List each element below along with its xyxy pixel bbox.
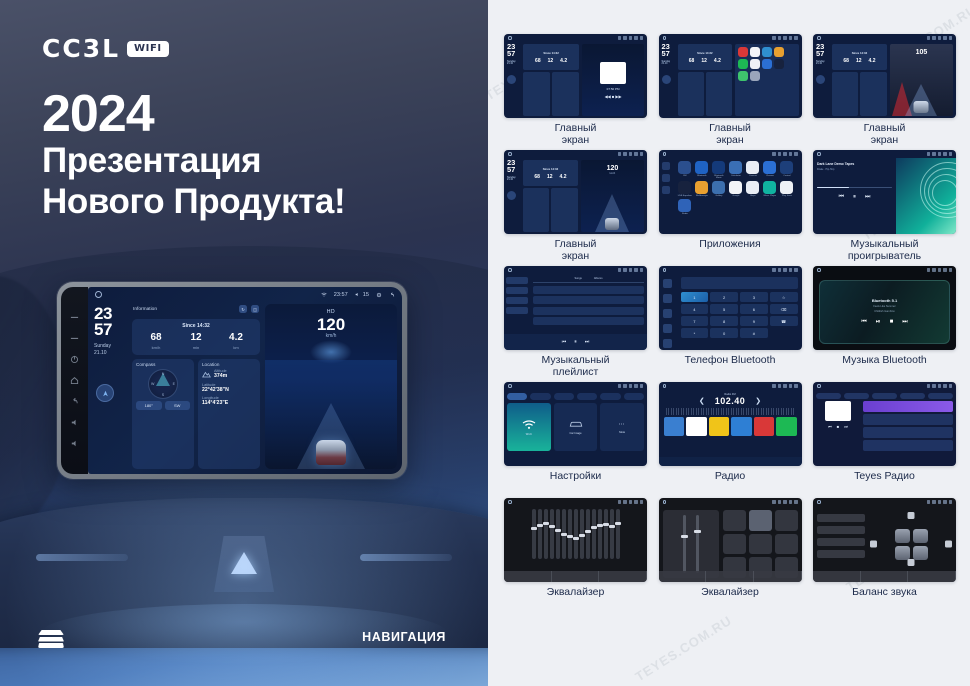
settings-gear-icon[interactable] <box>376 292 382 298</box>
gallery-item[interactable]: Эквалайзер <box>659 498 802 613</box>
seat-layout <box>895 529 928 560</box>
balance-option-row[interactable] <box>817 550 865 558</box>
dial-key[interactable]: * <box>681 328 709 338</box>
layers-stack-icon <box>38 630 64 648</box>
settings-card-more[interactable]: ⋯ More <box>600 403 644 451</box>
eq-band-slider[interactable] <box>586 509 590 559</box>
more-icon: ⋯ <box>619 421 626 428</box>
stop-icon[interactable]: ■ <box>837 424 839 429</box>
settings-card-car-image[interactable]: Car Image <box>554 403 598 451</box>
gallery-item[interactable]: Эквалайзер <box>504 498 647 613</box>
altitude-value: 374m <box>214 373 227 379</box>
trip-metric-duration: 12 min <box>176 333 216 350</box>
eq-band-slider[interactable] <box>550 509 554 559</box>
trip-since-label: Since 14:32 <box>136 323 256 329</box>
air-vent-left <box>36 554 128 561</box>
app-tile[interactable]: Bluetooth Music <box>711 161 726 179</box>
home-icon[interactable] <box>95 291 102 298</box>
app-tile[interactable]: Control <box>779 161 794 179</box>
balance-toolbar[interactable] <box>813 571 956 582</box>
eq-band-slider[interactable] <box>568 509 572 559</box>
app-tile[interactable]: Gallery <box>711 181 726 197</box>
clock-date: 21.10 <box>94 350 127 357</box>
gallery-item[interactable]: ⏮ ■ ⏭ <box>813 382 956 497</box>
app-tile[interactable]: Maps <box>745 181 760 197</box>
playlist-row[interactable] <box>533 296 644 304</box>
dial-key[interactable]: 8 <box>710 316 738 326</box>
home-key[interactable] <box>70 376 79 385</box>
thumbnail-equalizer-presets[interactable] <box>659 498 802 582</box>
track-artist: Drake · Hip-Hop <box>817 168 892 171</box>
playlist-row[interactable] <box>533 286 644 294</box>
settings-card-label: Car Image <box>569 432 581 435</box>
app-tile[interactable]: Radio <box>677 199 692 215</box>
station-list <box>863 401 953 457</box>
app-grid: FM Bluetooth Bluetooth Music Calculator … <box>674 158 801 234</box>
gallery-caption: Эквалайзер <box>547 587 605 613</box>
visualizer <box>896 158 956 234</box>
thumbnail-playlist[interactable]: SongsAlbums ⏮ ⏸ ⏭ <box>504 266 647 350</box>
thumbnail-home-media[interactable]: 2357Sunday21.10 Since 14:3268124.2 07:50… <box>504 34 647 118</box>
dial-key[interactable]: 5 <box>710 304 738 314</box>
next-icon[interactable]: ⏭ <box>865 194 870 201</box>
gallery-caption: Музыка Bluetooth <box>842 355 926 381</box>
call-button[interactable]: ☎ <box>770 316 798 326</box>
headline-line-2: Нового Продукта! <box>42 182 345 223</box>
thumbnail-teyes-radio[interactable]: ⏮ ■ ⏭ <box>813 382 956 466</box>
radio-preset[interactable] <box>754 417 775 436</box>
headline-year: 2024 <box>42 88 345 141</box>
gallery-item[interactable]: 2357Sunday21.10 Since 14:3268124.2 07:50… <box>504 34 647 149</box>
gallery-row: SongsAlbums ⏮ ⏸ ⏭ Музыкальныйпл <box>504 266 956 381</box>
gallery-item[interactable]: SongsAlbums ⏮ ⏸ ⏭ Музыкальныйпл <box>504 266 647 381</box>
thumbnail-home-nav[interactable]: 2357Sunday21.10 Since 14:3268124.2 105 <box>813 34 956 118</box>
dial-key[interactable]: # <box>740 328 768 338</box>
dialpad-icon[interactable] <box>663 279 672 288</box>
compass-direction-value: SW <box>165 401 191 410</box>
gallery-caption: Teyes Радио <box>854 471 915 497</box>
promo-hero-panel: CC3L WIFI 2024 Презентация Нового Продук… <box>0 0 488 686</box>
balance-options <box>817 510 865 578</box>
location-widget[interactable]: Location Altitude 374m Latitude <box>198 359 260 469</box>
dial-pad: 1 2 3 ☆ 4 5 6 ⌫ 7 8 9 ☎ <box>681 292 798 338</box>
thumbnail-bluetooth-phone[interactable]: 1 2 3 ☆ 4 5 6 ⌫ 7 8 9 ☎ <box>659 266 802 350</box>
settings-card-label: Wi-Fi <box>526 433 532 436</box>
compass-bearing-value: 180° <box>136 401 162 410</box>
playlist-tab-songs[interactable]: Songs <box>574 277 581 280</box>
previous-icon[interactable]: ⏮ <box>861 319 866 326</box>
station-row[interactable] <box>863 401 953 412</box>
radio-preset[interactable] <box>709 417 730 436</box>
previous-icon[interactable]: ⏮ <box>839 194 844 201</box>
station-row[interactable] <box>863 427 953 438</box>
gallery-caption: Музыкальныйплейлист <box>542 355 610 381</box>
bt-track-title: Feels Like Summer <box>873 305 895 308</box>
eq-band-slider[interactable] <box>574 509 578 559</box>
equalizer-toolbar[interactable] <box>504 571 647 582</box>
gallery-caption: Главныйэкран <box>555 239 597 265</box>
eq-preset-button[interactable] <box>775 534 798 555</box>
eq-band-slider[interactable] <box>562 509 566 559</box>
eq-band-slider[interactable] <box>610 509 614 559</box>
app-tile[interactable]: Google <box>728 181 743 197</box>
thumbnail-sound-balance[interactable] <box>813 498 956 582</box>
balance-pad[interactable] <box>870 510 952 578</box>
eq-preset-button[interactable] <box>749 534 772 555</box>
bluetooth-settings-icon[interactable] <box>663 339 672 348</box>
gallery-caption: Музыкальныйпроигрыватель <box>848 239 921 265</box>
trip-metric-speed: 68 km/h <box>136 333 176 350</box>
hud-speed-value: 120 <box>317 316 345 333</box>
settings-tab[interactable] <box>530 393 550 400</box>
gallery-row: Эквалайзер <box>504 498 956 613</box>
previous-icon[interactable]: ⏮ <box>562 339 567 345</box>
eq-preset-button[interactable] <box>723 534 746 555</box>
radio-preset[interactable] <box>686 417 707 436</box>
radio-frequency: 102.40 <box>715 396 746 406</box>
app-tile[interactable]: FileManager <box>694 181 709 197</box>
settings-tab[interactable] <box>507 393 527 400</box>
wifi-icon <box>321 292 327 297</box>
home-screen-body: 23 57 Sunday 21.10 Information ↻ <box>88 302 402 474</box>
dial-key[interactable]: 4 <box>681 304 709 314</box>
compass-south-label: S <box>162 393 164 397</box>
watermark: TEYES.COM.RU <box>632 613 734 685</box>
compass-north-label: N <box>162 372 165 376</box>
compass-east-label: E <box>173 382 175 386</box>
thumbnail-bluetooth-music[interactable]: Bluetooth 5.1 Feels Like Summer Childish… <box>813 266 956 350</box>
app-tile[interactable]: Play Store <box>779 181 794 197</box>
gallery-item[interactable]: Wi-Fi Car Image ⋯ More <box>504 382 647 497</box>
equalizer-bands <box>507 509 644 559</box>
radio-preset[interactable] <box>776 417 797 436</box>
gallery-caption: Эквалайзер <box>701 587 759 613</box>
playlist-row[interactable] <box>533 307 644 315</box>
app-tile[interactable]: USB Equalizer <box>677 181 692 197</box>
volume-down-key[interactable] <box>70 334 79 343</box>
gallery-item[interactable]: Bluetooth 5.1 Feels Like Summer Childish… <box>813 266 956 381</box>
volume-indicator: 15 <box>355 292 369 298</box>
eq-band-slider[interactable] <box>616 509 620 559</box>
treble-slider[interactable] <box>696 515 699 573</box>
pause-icon[interactable]: ⏸ <box>853 194 856 201</box>
balance-front-button[interactable] <box>908 512 915 519</box>
wifi-badge: WIFI <box>127 41 169 57</box>
thumbnail-music-player[interactable]: Dark Lane Demo Tapes Drake · Hip-Hop ⏮ ⏸… <box>813 150 956 234</box>
eq-preset-button[interactable] <box>723 510 746 531</box>
gallery-item[interactable]: 2357Sunday21.10 Since 14:3268124.2 <box>659 34 802 149</box>
settings-tab[interactable] <box>577 393 597 400</box>
volume-minus-key[interactable] <box>70 439 79 448</box>
status-clock: 23:57 <box>334 292 348 298</box>
next-icon[interactable]: ⏭ <box>902 319 907 326</box>
compass-title: Compass <box>136 362 190 367</box>
dial-key[interactable]: 1 <box>681 292 709 302</box>
gallery-grid: 2357Sunday21.10 Since 14:3268124.2 07:50… <box>504 34 956 613</box>
head-unit-bezel-buttons <box>61 287 88 474</box>
app-tile[interactable]: FM <box>677 161 692 179</box>
gallery-item[interactable]: Radio FM ❮ 102.40 ❯ <box>659 382 802 497</box>
preset-buttons <box>723 510 798 578</box>
thumbnail-apps[interactable]: FM Bluetooth Bluetooth Music Calculator … <box>659 150 802 234</box>
trip-information-card[interactable]: Since 14:32 68 km/h 12 min <box>132 319 260 355</box>
compass-widget[interactable]: Compass N E S W 180° S <box>132 359 194 469</box>
dial-key[interactable]: 2 <box>710 292 738 302</box>
volume-plus-key[interactable] <box>70 418 79 427</box>
contacts-icon[interactable] <box>663 294 672 303</box>
balance-right-button[interactable] <box>945 541 952 548</box>
head-unit-screen: 23:57 15 23 57 Su <box>88 287 402 474</box>
app-tile[interactable]: Camera <box>745 161 760 179</box>
mini-player-bar[interactable]: ⏮ ⏸ ⏭ <box>504 334 647 350</box>
previous-icon[interactable]: ⏮ <box>828 424 832 429</box>
settings-card-wifi[interactable]: Wi-Fi <box>507 403 551 451</box>
track-title: Dark Lane Demo Tapes <box>817 162 892 166</box>
refresh-icon[interactable]: ↻ <box>239 305 247 313</box>
gallery-row: 2357Sunday21.10 Since 14:3268124.2 07:50… <box>504 34 956 149</box>
dial-key[interactable]: 0 <box>710 328 738 338</box>
station-row[interactable] <box>863 414 953 425</box>
search-icon[interactable] <box>663 309 672 318</box>
head-unit-device: 23:57 15 23 57 Su <box>57 282 407 479</box>
station-row[interactable] <box>863 440 953 451</box>
gallery-item[interactable]: 2357Sunday21.10 Since 14:3268124.2 120 k… <box>504 150 647 265</box>
next-icon[interactable]: ⏭ <box>844 424 848 429</box>
thumbnail-home-hud[interactable]: 2357Sunday21.10 Since 14:3268124.2 120 k… <box>504 150 647 234</box>
playlist-tab-albums[interactable]: Albums <box>594 277 603 280</box>
pause-icon[interactable]: ⏸ <box>574 339 577 345</box>
longitude-value: 114°4'23"E <box>202 400 256 406</box>
clock-minutes: 57 <box>94 322 127 338</box>
gallery-caption: Радио <box>715 471 745 497</box>
balance-rear-button[interactable] <box>908 559 915 566</box>
app-tile[interactable]: Calculator <box>728 161 743 179</box>
product-brand: CC3L WIFI <box>42 34 169 63</box>
balance-left-button[interactable] <box>870 541 877 548</box>
balance-option-row[interactable] <box>817 526 865 534</box>
phone-number-input[interactable] <box>681 277 798 289</box>
car-interior-illustration: 23:57 15 23 57 Su <box>0 236 488 686</box>
volume-up-key[interactable] <box>70 313 79 322</box>
latitude-value: 22°42'38"N <box>202 387 256 393</box>
air-vent-right <box>360 554 452 561</box>
compass-west-label: W <box>151 382 154 386</box>
gallery-caption: Приложения <box>699 239 760 265</box>
eq-preset-button[interactable] <box>749 510 772 531</box>
eq-band-slider[interactable] <box>532 509 536 559</box>
prev-station-icon[interactable]: ❮ <box>699 397 705 405</box>
album-art <box>825 401 851 421</box>
gallery-caption: Главныйэкран <box>709 123 751 149</box>
information-widget-header: Information ↻ ◫ <box>132 304 260 315</box>
back-key[interactable] <box>70 397 79 406</box>
hud-speed-widget[interactable]: HD 120 km/h <box>265 304 397 469</box>
equalizer-toolbar[interactable] <box>659 571 802 582</box>
eq-band-slider[interactable] <box>538 509 542 559</box>
playlist-row[interactable] <box>533 317 644 325</box>
radio-toolbar[interactable] <box>659 457 802 466</box>
settings-tabs <box>507 393 644 400</box>
gallery-item[interactable]: Dark Lane Demo Tapes Drake · Hip-Hop ⏮ ⏸… <box>813 150 956 265</box>
bass-slider[interactable] <box>683 515 686 573</box>
gallery-caption: Настройки <box>550 471 602 497</box>
gallery-item[interactable]: 1 2 3 ☆ 4 5 6 ⌫ 7 8 9 ☎ <box>659 266 802 381</box>
wifi-icon <box>522 419 536 430</box>
app-tile[interactable]: Bluetooth <box>694 161 709 179</box>
settings-tab[interactable] <box>600 393 620 400</box>
favorite-icon[interactable]: ☆ <box>770 292 798 302</box>
thumbnail-equalizer[interactable] <box>504 498 647 582</box>
dial-key[interactable]: 3 <box>740 292 768 302</box>
dial-key[interactable]: 6 <box>740 304 768 314</box>
eq-band-slider[interactable] <box>544 509 548 559</box>
gallery-caption: Телефон Bluetooth <box>685 355 776 381</box>
gallery-item[interactable]: Баланс звука <box>813 498 956 613</box>
page-title: 2024 Презентация Нового Продукта! <box>42 88 345 222</box>
next-station-icon[interactable]: ❯ <box>755 397 761 405</box>
eq-band-slider[interactable] <box>580 509 584 559</box>
hazard-light-button[interactable] <box>228 548 260 578</box>
dial-key[interactable]: 7 <box>681 316 709 326</box>
preset-list <box>662 417 799 436</box>
progress-slider[interactable] <box>817 187 892 188</box>
eq-band-slider[interactable] <box>604 509 608 559</box>
screenshot-gallery-panel: TEYES.COM.RU TEYES.COM.RU TEYES.COM.RU T… <box>488 0 970 686</box>
navigation-shortcut-button[interactable] <box>96 384 114 402</box>
balance-option-row[interactable] <box>817 514 865 522</box>
gallery-item[interactable]: 2357Sunday21.10 Since 14:3268124.2 105 <box>813 34 956 149</box>
thumbnail-radio[interactable]: Radio FM ❮ 102.40 ❯ <box>659 382 802 466</box>
bt-track-artist: Childish Gambino <box>874 310 894 313</box>
gallery-row: Wi-Fi Car Image ⋯ More <box>504 382 956 497</box>
gallery-item[interactable]: FM Bluetooth Bluetooth Music Calculator … <box>659 150 802 265</box>
frequency-scale[interactable] <box>666 408 795 415</box>
mountain-icon <box>202 370 211 378</box>
trip-metric-distance: 4.2 km <box>216 333 256 350</box>
thumbnail-settings[interactable]: Wi-Fi Car Image ⋯ More <box>504 382 647 466</box>
eq-band-slider[interactable] <box>556 509 560 559</box>
bluetooth-version-label: Bluetooth 5.1 <box>872 298 897 303</box>
information-title: Information <box>133 307 157 312</box>
hud-car-model <box>316 440 346 465</box>
headline-line-1: Презентация <box>42 141 345 182</box>
play-pause-icon[interactable]: ⏯ <box>876 319 881 326</box>
location-title: Location <box>202 362 256 367</box>
radio-preset[interactable] <box>731 417 752 436</box>
expand-icon[interactable]: ◫ <box>251 305 259 313</box>
bass-treble-sliders <box>663 510 719 578</box>
brand-model-text: CC3L <box>42 34 120 63</box>
power-key[interactable] <box>70 355 79 364</box>
hazard-triangle-icon <box>231 552 257 574</box>
footer-section-label: НАВИГАЦИЯ <box>362 630 446 644</box>
settings-tab[interactable] <box>554 393 574 400</box>
clock-widget[interactable]: 23 57 Sunday 21.10 <box>94 304 127 469</box>
dial-key[interactable]: 9 <box>740 316 768 326</box>
gallery-caption: Главныйэкран <box>555 123 597 149</box>
back-icon[interactable] <box>389 292 395 298</box>
next-icon[interactable]: ⏭ <box>585 339 590 345</box>
eq-preset-button[interactable] <box>775 510 798 531</box>
hud-speed-unit: km/h <box>326 333 337 339</box>
eq-band-slider[interactable] <box>598 509 602 559</box>
car-icon <box>569 419 583 429</box>
stop-icon[interactable]: ■ <box>890 319 894 326</box>
eq-band-slider[interactable] <box>592 509 596 559</box>
app-tile[interactable]: Chrome <box>762 161 777 179</box>
app-tile[interactable]: Music Player <box>762 181 777 197</box>
hud-speed-value: 120 <box>607 165 619 172</box>
radio-preset[interactable] <box>664 417 685 436</box>
settings-card-label: More <box>619 431 625 434</box>
nav-speed-value: 105 <box>916 49 928 56</box>
status-bar: 23:57 15 <box>88 287 402 302</box>
balance-option-row[interactable] <box>817 538 865 546</box>
call-history-icon[interactable] <box>663 324 672 333</box>
gallery-caption: Баланс звука <box>852 587 917 613</box>
gallery-caption: Главныйэкран <box>864 123 906 149</box>
backspace-icon[interactable]: ⌫ <box>770 304 798 314</box>
settings-tab[interactable] <box>624 393 644 400</box>
gallery-row: 2357Sunday21.10 Since 14:3268124.2 120 k… <box>504 150 956 265</box>
compass-dial: N E S W <box>148 369 178 399</box>
thumbnail-home-apps[interactable]: 2357Sunday21.10 Since 14:3268124.2 <box>659 34 802 118</box>
widgets-column: Information ↻ ◫ Since 14:32 68 <box>132 304 260 469</box>
